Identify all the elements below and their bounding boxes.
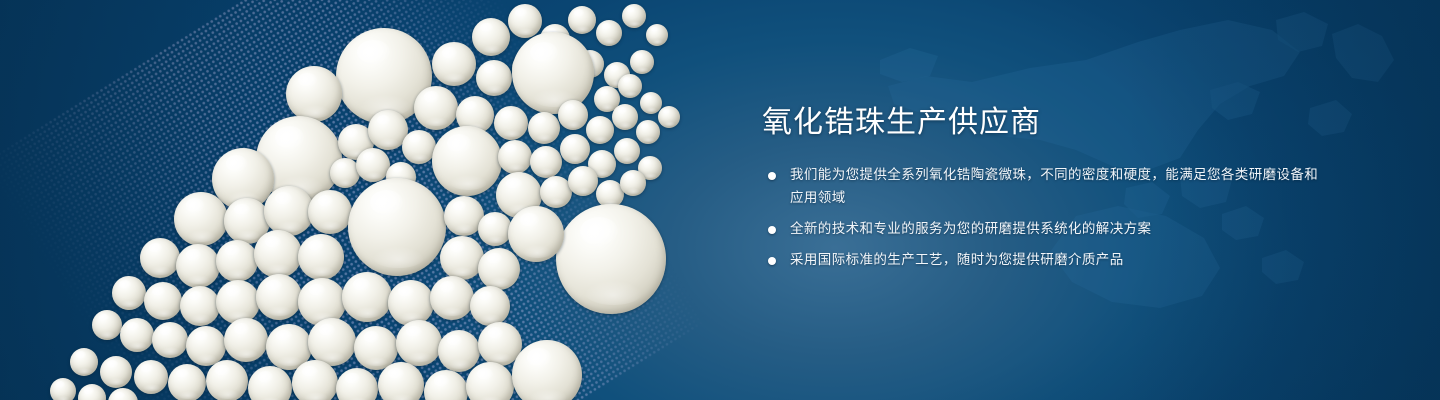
bead bbox=[50, 378, 76, 400]
bead bbox=[440, 236, 484, 280]
bead bbox=[216, 280, 260, 324]
bead bbox=[348, 178, 446, 276]
bead bbox=[614, 138, 640, 164]
bead bbox=[388, 280, 434, 326]
bead bbox=[586, 116, 614, 144]
list-item-label: 采用国际标准的生产工艺，随时为您提供研磨介质产品 bbox=[790, 252, 1124, 268]
bead bbox=[308, 318, 356, 366]
bead bbox=[356, 148, 390, 182]
bullet-dot-icon bbox=[768, 257, 776, 265]
bead bbox=[402, 130, 436, 164]
bead bbox=[168, 364, 206, 400]
bead bbox=[568, 166, 598, 196]
bead bbox=[556, 204, 666, 314]
zirconia-bead-cluster bbox=[0, 0, 760, 400]
list-item: 我们能为您提供全系列氧化锆陶瓷微珠，不同的密度和硬度，能满足您各类研磨设备和应用… bbox=[762, 164, 1322, 210]
bead bbox=[622, 4, 646, 28]
bead bbox=[430, 276, 474, 320]
bead bbox=[646, 24, 668, 46]
bead bbox=[264, 186, 314, 236]
list-item-label: 全新的技术和专业的服务为您的研磨提供系统化的解决方案 bbox=[790, 221, 1151, 237]
bead bbox=[100, 356, 132, 388]
list-item-label: 我们能为您提供全系列氧化锆陶瓷微珠，不同的密度和硬度，能满足您各类研磨设备和应用… bbox=[790, 167, 1318, 206]
bead bbox=[466, 362, 514, 400]
bead bbox=[144, 282, 182, 320]
bead bbox=[658, 106, 680, 128]
bead bbox=[498, 140, 532, 174]
bead bbox=[530, 146, 562, 178]
bead bbox=[558, 100, 588, 130]
bead bbox=[70, 348, 98, 376]
bead bbox=[308, 190, 352, 234]
bead bbox=[378, 362, 424, 400]
bead bbox=[512, 32, 594, 114]
bead bbox=[494, 106, 528, 140]
bead bbox=[254, 230, 302, 278]
bead bbox=[478, 248, 520, 290]
bead bbox=[134, 360, 168, 394]
bead bbox=[216, 240, 258, 282]
bead bbox=[248, 366, 292, 400]
bead bbox=[152, 322, 188, 358]
bead bbox=[568, 6, 596, 34]
bead bbox=[472, 18, 510, 56]
bead bbox=[176, 244, 220, 288]
bead bbox=[470, 286, 510, 326]
list-item: 全新的技术和专业的服务为您的研磨提供系统化的解决方案 bbox=[762, 218, 1322, 241]
feature-list: 我们能为您提供全系列氧化锆陶瓷微珠，不同的密度和硬度，能满足您各类研磨设备和应用… bbox=[762, 164, 1322, 272]
bead bbox=[528, 112, 560, 144]
bead bbox=[612, 104, 638, 130]
bead bbox=[432, 126, 502, 196]
bead bbox=[120, 318, 154, 352]
bead bbox=[292, 360, 338, 400]
banner-content: 氧化锆珠生产供应商 我们能为您提供全系列氧化锆陶瓷微珠，不同的密度和硬度，能满足… bbox=[762, 104, 1322, 272]
hero-banner: 氧化锆珠生产供应商 我们能为您提供全系列氧化锆陶瓷微珠，不同的密度和硬度，能满足… bbox=[0, 0, 1440, 400]
bead bbox=[298, 234, 344, 280]
bead bbox=[180, 286, 220, 326]
bead bbox=[286, 66, 342, 122]
bead bbox=[596, 20, 622, 46]
bead bbox=[438, 330, 480, 372]
bead bbox=[78, 384, 106, 400]
list-item: 采用国际标准的生产工艺，随时为您提供研磨介质产品 bbox=[762, 249, 1322, 272]
bead bbox=[630, 50, 654, 74]
bead bbox=[636, 120, 660, 144]
bead bbox=[396, 320, 442, 366]
bead bbox=[432, 42, 476, 86]
bead bbox=[618, 74, 642, 98]
page-title: 氧化锆珠生产供应商 bbox=[762, 104, 1322, 142]
bead bbox=[224, 318, 268, 362]
bead bbox=[560, 134, 590, 164]
bead bbox=[206, 360, 248, 400]
bead bbox=[424, 370, 468, 400]
bead bbox=[508, 4, 542, 38]
bead bbox=[108, 388, 138, 400]
bead bbox=[476, 60, 512, 96]
bead bbox=[478, 212, 512, 246]
bead bbox=[342, 272, 392, 322]
bead bbox=[112, 276, 146, 310]
bullet-dot-icon bbox=[768, 172, 776, 180]
bead bbox=[140, 238, 180, 278]
bead bbox=[256, 274, 302, 320]
bead bbox=[414, 86, 458, 130]
bullet-dot-icon bbox=[768, 226, 776, 234]
bead bbox=[174, 192, 228, 246]
bead bbox=[620, 170, 646, 196]
bead bbox=[336, 368, 378, 400]
bead bbox=[92, 310, 122, 340]
bead bbox=[512, 340, 582, 400]
bead bbox=[508, 206, 564, 262]
